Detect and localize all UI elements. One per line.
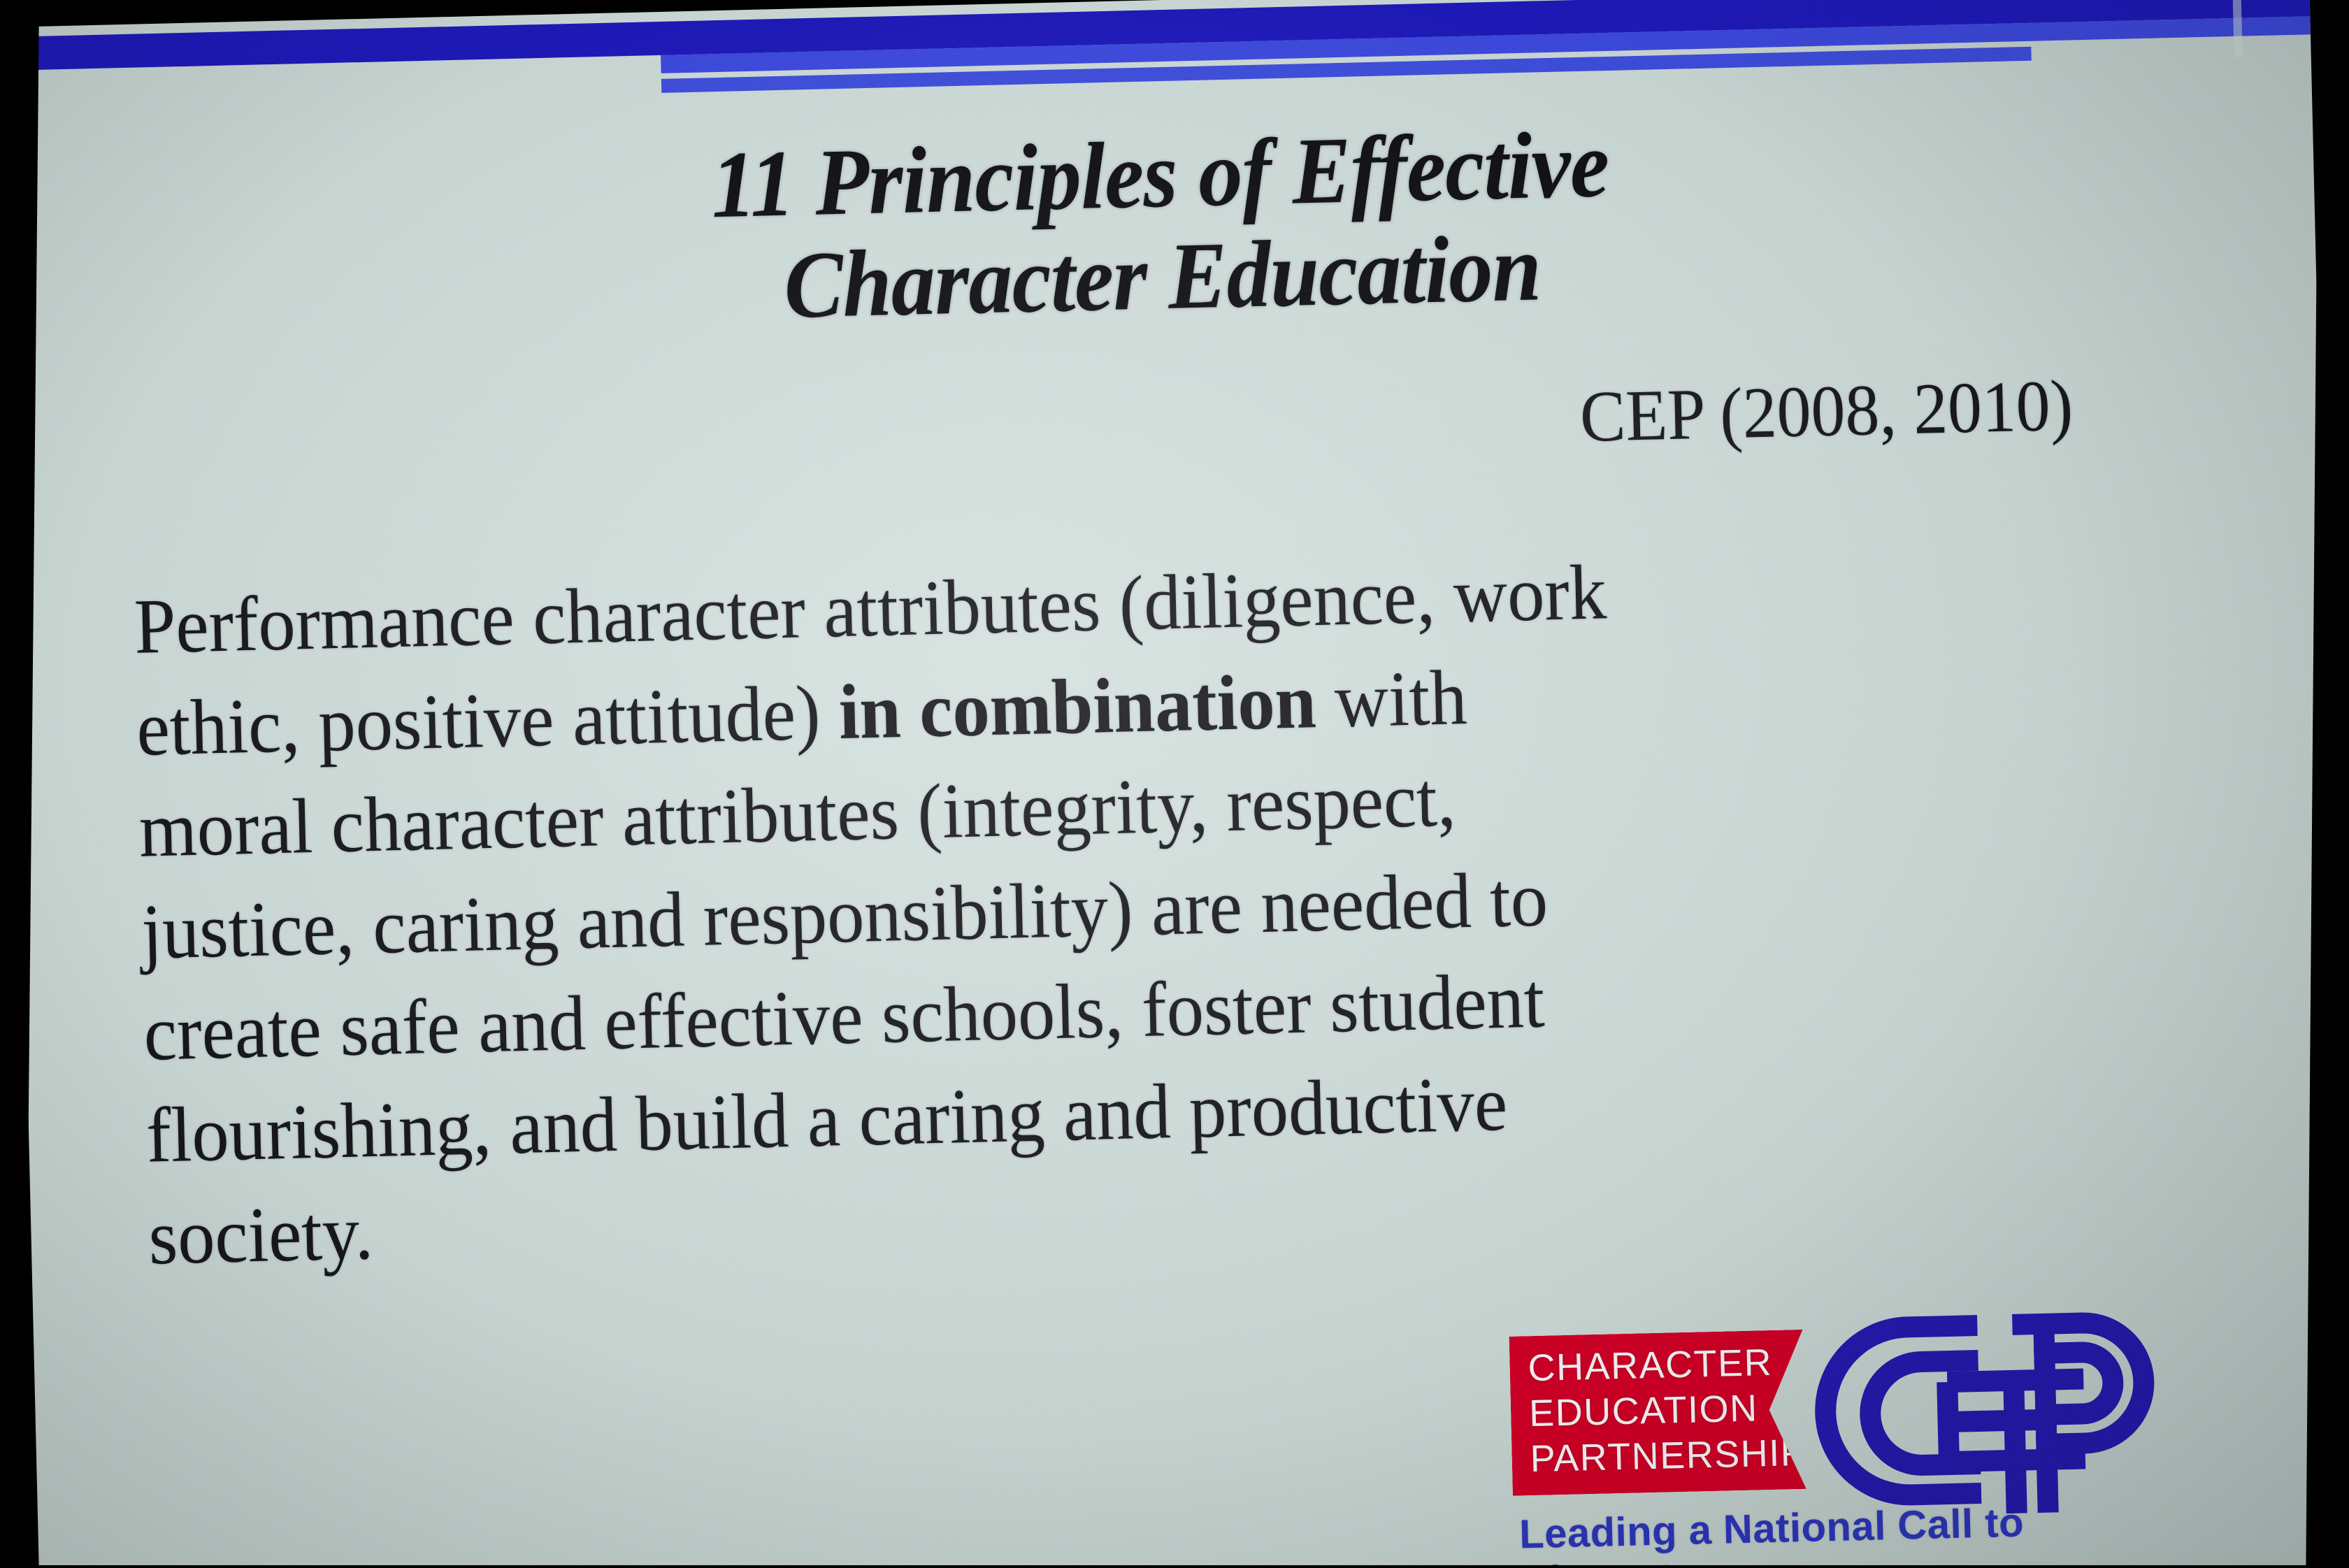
cep-logo-badge-line-1: CHARACTER — [1528, 1339, 1804, 1391]
header-bar-right-notch — [2232, 0, 2242, 57]
presentation-slide: 11 Principles of Effective Character Edu… — [3, 0, 2348, 1568]
body-emphasis-in-combination: in combination — [838, 658, 1317, 756]
cep-logo-tagline: Leading a National Call to Character — [1518, 1495, 2227, 1568]
slide-title: 11 Principles of Effective Character Edu… — [6, 97, 2317, 355]
cep-logo-name-badge: CHARACTER EDUCATION PARTNERSHIP — [1509, 1330, 1806, 1496]
cep-logo: CHARACTER EDUCATION PARTNERSHIP — [1509, 1307, 2227, 1568]
cep-logo-badge-line-2: EDUCATION — [1528, 1385, 1804, 1437]
slide-body-text: Performance character attributes (dilige… — [133, 528, 2218, 1289]
cep-logo-badge-line-3: PARTNERSHIP — [1530, 1430, 1806, 1481]
projected-slide-photograph: 11 Principles of Effective Character Edu… — [0, 0, 2349, 1568]
slide-rotation-wrapper: 11 Principles of Effective Character Edu… — [0, 0, 2349, 1568]
body-line-2-post: with — [1315, 654, 1468, 745]
source-citation: CEP (2008, 2010) — [1579, 367, 2074, 455]
cep-monogram-icon — [1802, 1309, 2171, 1527]
photo-border-bottom — [0, 1565, 2349, 1568]
photo-border-top-left — [0, 0, 294, 18]
body-line-2-pre: ethic, positive attitude) — [136, 669, 840, 772]
